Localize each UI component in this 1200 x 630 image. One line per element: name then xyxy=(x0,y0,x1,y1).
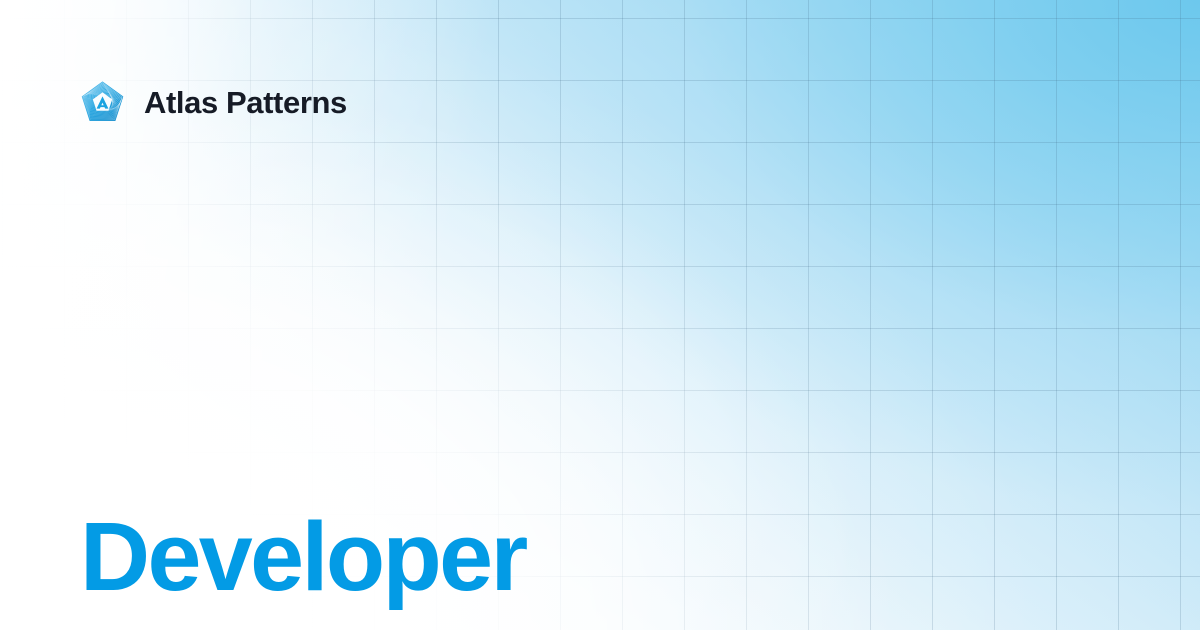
page-title: Developer xyxy=(80,505,526,610)
card-content: Atlas Patterns Developer xyxy=(0,0,1200,630)
brand-lockup[interactable]: Atlas Patterns xyxy=(80,80,347,125)
atlas-pentagon-spiral-logo-icon xyxy=(80,80,125,125)
og-card-canvas: Atlas Patterns Developer xyxy=(0,0,1200,630)
brand-name: Atlas Patterns xyxy=(144,87,347,118)
